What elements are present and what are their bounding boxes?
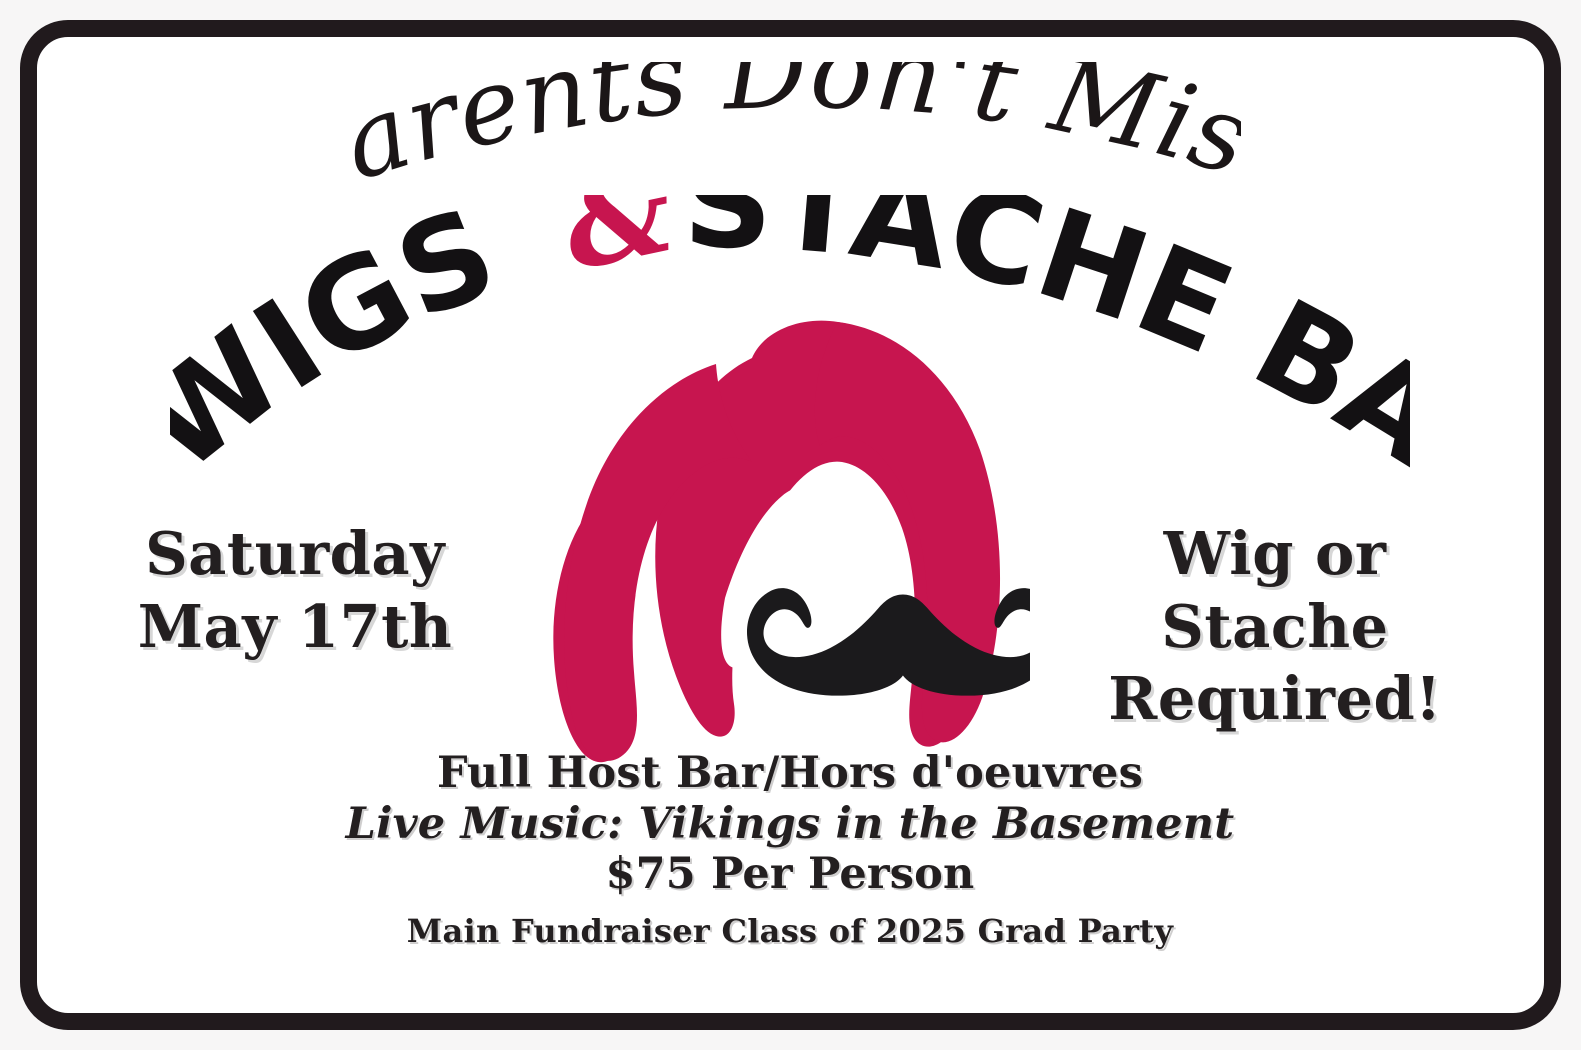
event-details-block: Full Host Bar/Hors d'oeuvres Live Music:… — [290, 748, 1290, 900]
event-date-block: Saturday May 17th — [60, 518, 530, 663]
detail-line-bar: Full Host Bar/Hors d'oeuvres — [290, 748, 1290, 799]
flyer-canvas: Parents Don't Miss WIGS — [0, 0, 1581, 1050]
detail-line-price: $75 Per Person — [290, 849, 1290, 900]
svg-text:Parents Don't Miss: Parents Don't Miss — [341, 62, 1241, 204]
kicker-text: Parents Don't Miss — [341, 62, 1241, 204]
svg-text:&: & — [551, 195, 684, 297]
detail-line-music: Live Music: Vikings in the Basement — [290, 799, 1290, 850]
fundraiser-footer: Main Fundraiser Class of 2025 Grad Party — [290, 912, 1290, 950]
svg-text:WIGS: WIGS — [170, 195, 515, 495]
title-ampersand: & — [551, 195, 684, 297]
dress-code-line2: Required! — [1040, 663, 1510, 736]
dress-code-line1: Wig or Stache — [1040, 518, 1510, 663]
event-date-line2: May 17th — [60, 591, 530, 664]
dress-code-block: Wig or Stache Required! — [1040, 518, 1510, 736]
wig-illustration — [520, 300, 1030, 770]
kicker-headline: Parents Don't Miss — [0, 62, 1581, 212]
title-part1: WIGS — [170, 195, 515, 495]
event-date-line1: Saturday — [60, 518, 530, 591]
